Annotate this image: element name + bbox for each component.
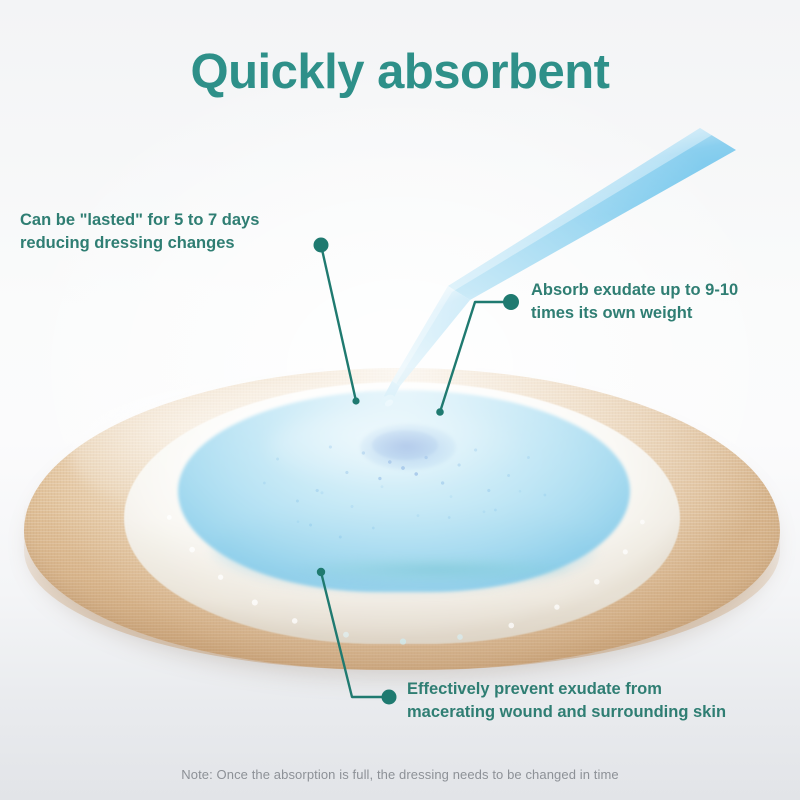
- foam-edge-exudate-tint: [300, 556, 570, 582]
- adhesive-weave-texture: [24, 368, 780, 670]
- leader-dot-protection-label: [382, 690, 397, 705]
- callout-capacity-line2: times its own weight: [531, 302, 738, 325]
- leader-dot-capacity-label: [503, 294, 519, 310]
- leader-dot-duration-target: [352, 397, 359, 404]
- adhesive-front-shading: [24, 504, 780, 670]
- callout-protection-line1: Effectively prevent exudate from: [407, 678, 726, 701]
- adhesive-border: [24, 368, 780, 670]
- infographic-canvas: Quickly absorbent Can be "lasted" for 5 …: [0, 0, 800, 800]
- core-depth-shading: [214, 507, 594, 588]
- page-title: Quickly absorbent: [0, 44, 800, 100]
- adhesive-highlight: [69, 380, 462, 525]
- callout-duration: Can be "lasted" for 5 to 7 days reducing…: [20, 209, 259, 255]
- callout-capacity: Absorb exudate up to 9-10 times its own …: [531, 279, 738, 325]
- leader-line-capacity: [440, 302, 511, 412]
- droplet-impact-cluster: [360, 424, 456, 470]
- callout-capacity-line1: Absorb exudate up to 9-10: [531, 279, 738, 302]
- leader-dot-protection-target: [317, 568, 325, 576]
- callout-duration-line1: Can be "lasted" for 5 to 7 days: [20, 209, 259, 232]
- absorbent-core: [178, 390, 630, 592]
- foam-shading: [124, 382, 680, 644]
- absorbed-droplet-speckles: [238, 408, 568, 558]
- callout-duration-line2: reducing dressing changes: [20, 232, 259, 255]
- footer-note: Note: Once the absorption is full, the d…: [0, 767, 800, 782]
- absorbed-droplet-mist: [262, 470, 562, 546]
- foam-pad: [124, 382, 680, 644]
- pipette-body: [392, 128, 736, 386]
- foam-bubble-rim: [118, 430, 688, 660]
- callout-protection-line2: macerating wound and surrounding skin: [407, 701, 726, 724]
- droplet-impact-center: [372, 430, 438, 460]
- callout-protection: Effectively prevent exudate from macerat…: [407, 678, 726, 724]
- leader-line-protection: [321, 572, 389, 697]
- leader-dot-capacity-target: [436, 408, 444, 416]
- leader-line-duration: [321, 245, 356, 401]
- pipette-tip: [380, 381, 400, 408]
- core-highlight: [268, 406, 521, 487]
- leader-dot-duration-label: [314, 238, 329, 253]
